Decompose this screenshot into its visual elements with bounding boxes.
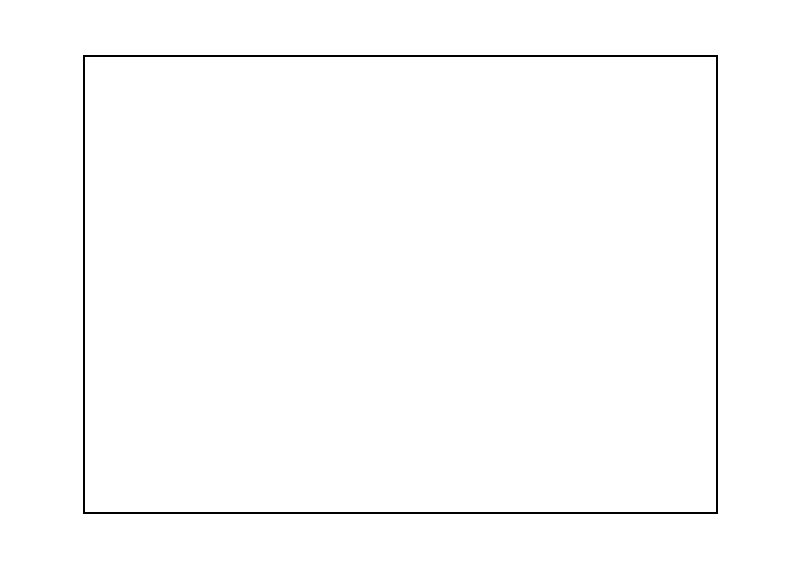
plot-canvas — [0, 0, 796, 572]
root-chart-svg — [0, 0, 796, 572]
canvas-background — [0, 0, 796, 572]
